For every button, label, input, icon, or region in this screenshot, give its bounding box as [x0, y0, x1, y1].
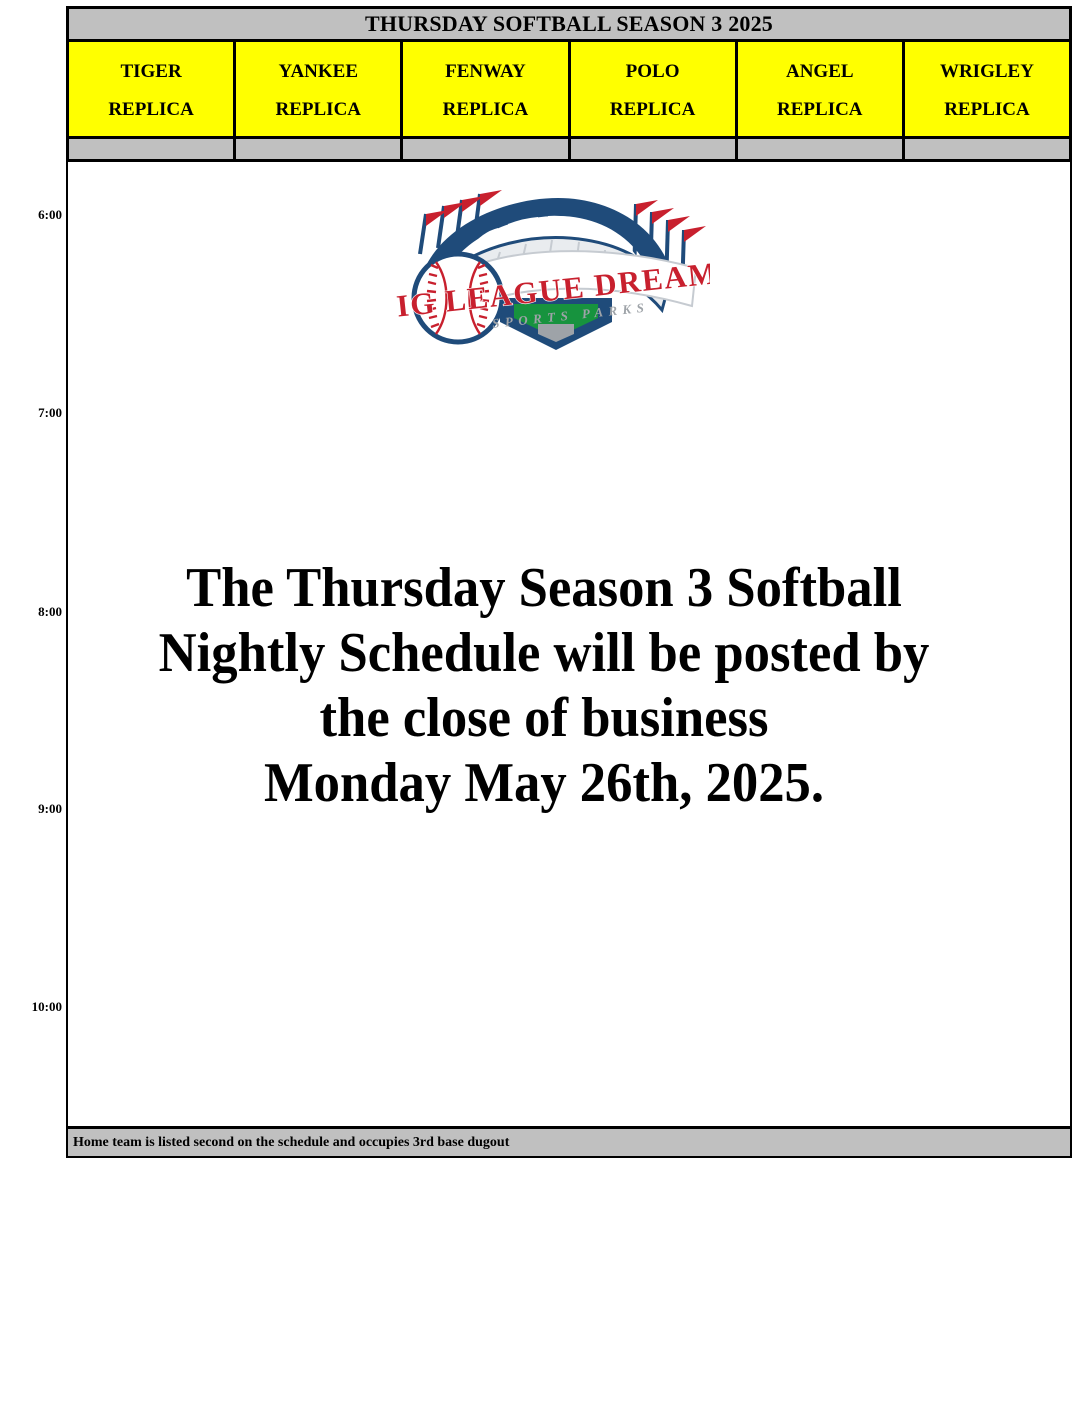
time-label-10: 10:00 [4, 1000, 62, 1013]
page-title: THURSDAY SOFTBALL SEASON 3 2025 [365, 13, 773, 35]
field-name-line2: REPLICA [443, 100, 529, 119]
announcement-line-4: Monday May 26th, 2025. [102, 751, 986, 816]
field-name-line1: TIGER [120, 62, 181, 81]
field-subheader-cell [236, 139, 403, 159]
field-header-angel: ANGEL REPLICA [738, 42, 905, 136]
field-name-line2: REPLICA [777, 100, 863, 119]
field-header-polo: POLO REPLICA [571, 42, 738, 136]
time-label-7: 7:00 [4, 406, 62, 419]
field-name-line1: POLO [626, 62, 680, 81]
field-subheader-row [66, 139, 1072, 162]
field-name-line2: REPLICA [108, 100, 194, 119]
time-label-9: 9:00 [4, 802, 62, 815]
field-name-line1: YANKEE [278, 62, 358, 81]
field-name-line1: FENWAY [445, 62, 526, 81]
announcement-line-3: the close of business [102, 686, 986, 751]
footer-note-bar: Home team is listed second on the schedu… [66, 1129, 1072, 1158]
field-subheader-cell [571, 139, 738, 159]
time-label-8: 8:00 [4, 605, 62, 618]
field-name-line2: REPLICA [944, 100, 1030, 119]
field-name-line2: REPLICA [610, 100, 696, 119]
field-subheader-cell [403, 139, 570, 159]
announcement-line-2: Nightly Schedule will be posted by [102, 621, 986, 686]
time-gutter: 6:00 7:00 8:00 9:00 10:00 [0, 0, 62, 1180]
field-name-line1: WRIGLEY [940, 62, 1034, 81]
field-header-yankee: YANKEE REPLICA [236, 42, 403, 136]
field-header-row: TIGER REPLICA YANKEE REPLICA FENWAY REPL… [66, 42, 1072, 139]
big-league-dreams-logo: BIG LEAGUE DREAMS SPORTS PARKS [396, 182, 710, 354]
field-name-line2: REPLICA [276, 100, 362, 119]
schedule-announcement: The Thursday Season 3 Softball Nightly S… [74, 556, 1014, 816]
footer-note-text: Home team is listed second on the schedu… [73, 1136, 509, 1150]
field-subheader-cell [738, 139, 905, 159]
field-header-wrigley: WRIGLEY REPLICA [905, 42, 1069, 136]
field-header-tiger: TIGER REPLICA [69, 42, 236, 136]
field-name-line1: ANGEL [786, 62, 854, 81]
time-label-6: 6:00 [4, 208, 62, 221]
field-subheader-cell [905, 139, 1069, 159]
announcement-line-1: The Thursday Season 3 Softball [102, 556, 986, 621]
field-subheader-cell [69, 139, 236, 159]
field-header-fenway: FENWAY REPLICA [403, 42, 570, 136]
page-title-bar: THURSDAY SOFTBALL SEASON 3 2025 [66, 6, 1072, 42]
